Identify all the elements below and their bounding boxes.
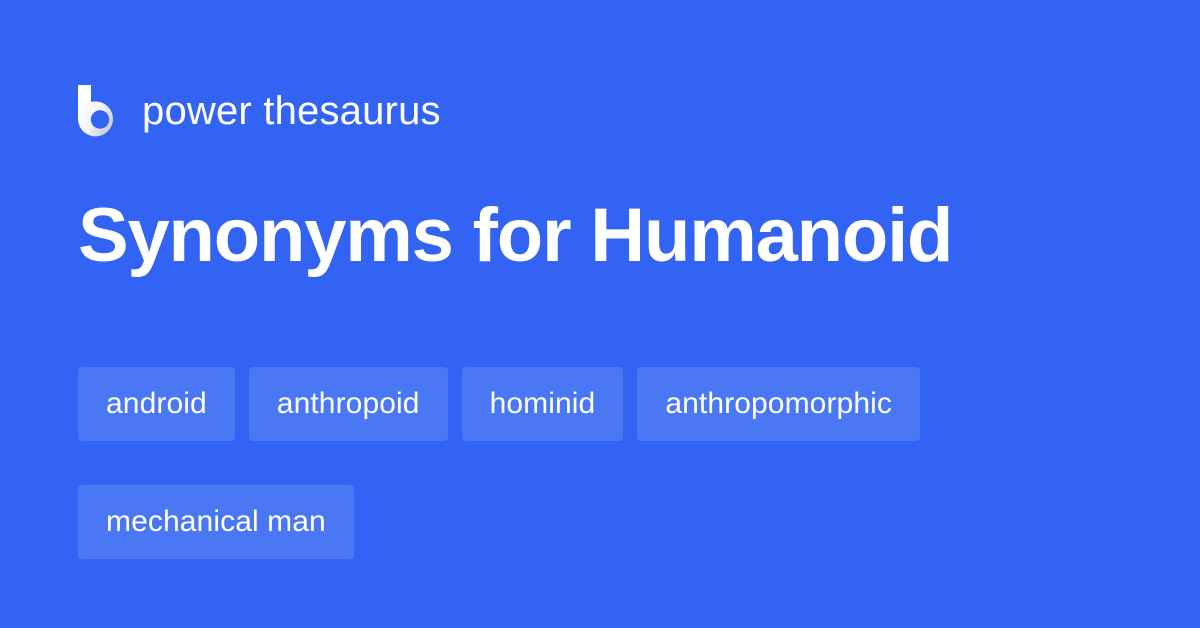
brand-name: power thesaurus bbox=[142, 91, 441, 131]
synonym-chip[interactable]: mechanical man bbox=[78, 485, 354, 559]
share-card: power thesaurus Synonyms for Humanoid an… bbox=[0, 0, 1200, 628]
synonym-chip-list: android anthropoid hominid anthropomorph… bbox=[78, 367, 1128, 559]
synonym-chip[interactable]: anthropoid bbox=[249, 367, 448, 441]
synonym-chip[interactable]: hominid bbox=[462, 367, 624, 441]
page-title: Synonyms for Humanoid bbox=[78, 196, 952, 276]
synonym-chip[interactable]: anthropomorphic bbox=[637, 367, 920, 441]
brand-lockup[interactable]: power thesaurus bbox=[78, 82, 441, 140]
synonym-chip[interactable]: android bbox=[78, 367, 235, 441]
power-thesaurus-b-logo-icon bbox=[78, 85, 124, 137]
